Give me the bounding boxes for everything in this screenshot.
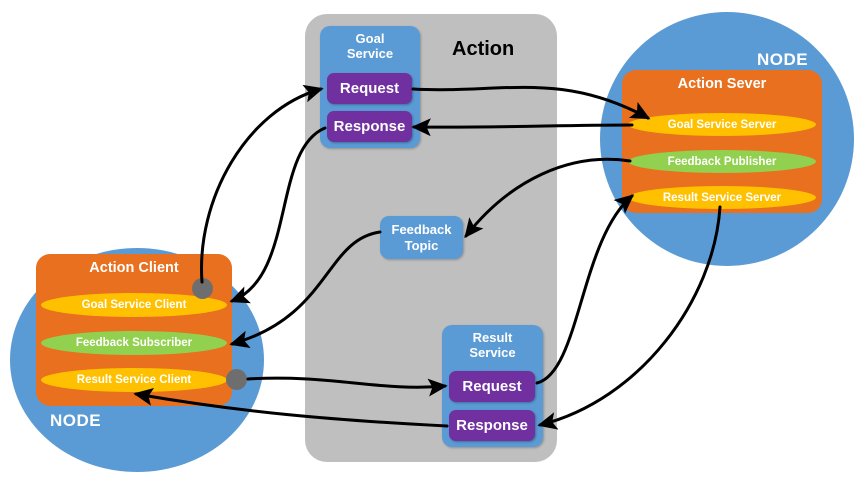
endpoint-label: Result Service Client	[77, 374, 191, 386]
result-service-client-connector-dot	[226, 369, 247, 390]
endpoint-feedback-publisher[interactable]: Feedback Publisher	[628, 150, 816, 173]
link-goal-client-to-request	[202, 89, 321, 282]
endpoint-label: Result Service Server	[663, 192, 781, 204]
endpoint-feedback-subscriber[interactable]: Feedback Subscriber	[41, 331, 227, 355]
action-panel-title: Action	[452, 38, 514, 61]
result-service-request-label: Request	[462, 378, 521, 395]
endpoint-label: Goal Service Client	[82, 299, 187, 311]
result-service-request[interactable]: Request	[449, 371, 535, 402]
endpoint-label: Feedback Publisher	[668, 156, 777, 168]
endpoint-result-service-server[interactable]: Result Service Server	[628, 186, 816, 209]
diagram-canvas: Action NODE Action Sever Goal Service Se…	[0, 0, 854, 480]
result-service-title-line2: Service	[442, 345, 543, 360]
goal-service-title: Goal Service	[320, 31, 420, 61]
result-service-response-label: Response	[456, 417, 528, 434]
endpoint-label: Feedback Subscriber	[76, 337, 192, 349]
endpoint-result-service-client[interactable]: Result Service Client	[41, 368, 227, 392]
goal-service-request[interactable]: Request	[327, 73, 412, 104]
action-server-box-title: Action Sever	[622, 76, 822, 92]
action-client-box-title: Action Client	[36, 260, 232, 276]
result-service-title: Result Service	[442, 330, 543, 360]
endpoint-goal-service-server[interactable]: Goal Service Server	[628, 113, 816, 136]
goal-service-title-line1: Goal	[320, 31, 420, 46]
goal-service-client-connector-dot	[192, 278, 213, 299]
action-server-node-label: NODE	[757, 50, 808, 70]
endpoint-label: Goal Service Server	[668, 119, 777, 131]
result-service-response[interactable]: Response	[449, 410, 535, 441]
goal-service-title-line2: Service	[320, 46, 420, 61]
feedback-topic-box[interactable]: Feedback Topic	[380, 216, 463, 259]
action-client-node-label: NODE	[50, 411, 101, 431]
goal-service-response[interactable]: Response	[327, 111, 412, 142]
goal-service-response-label: Response	[334, 118, 406, 135]
result-service-title-line1: Result	[442, 330, 543, 345]
goal-service-request-label: Request	[340, 80, 399, 97]
feedback-topic-title-line1: Feedback	[392, 222, 452, 238]
feedback-topic-title-line2: Topic	[392, 238, 452, 254]
